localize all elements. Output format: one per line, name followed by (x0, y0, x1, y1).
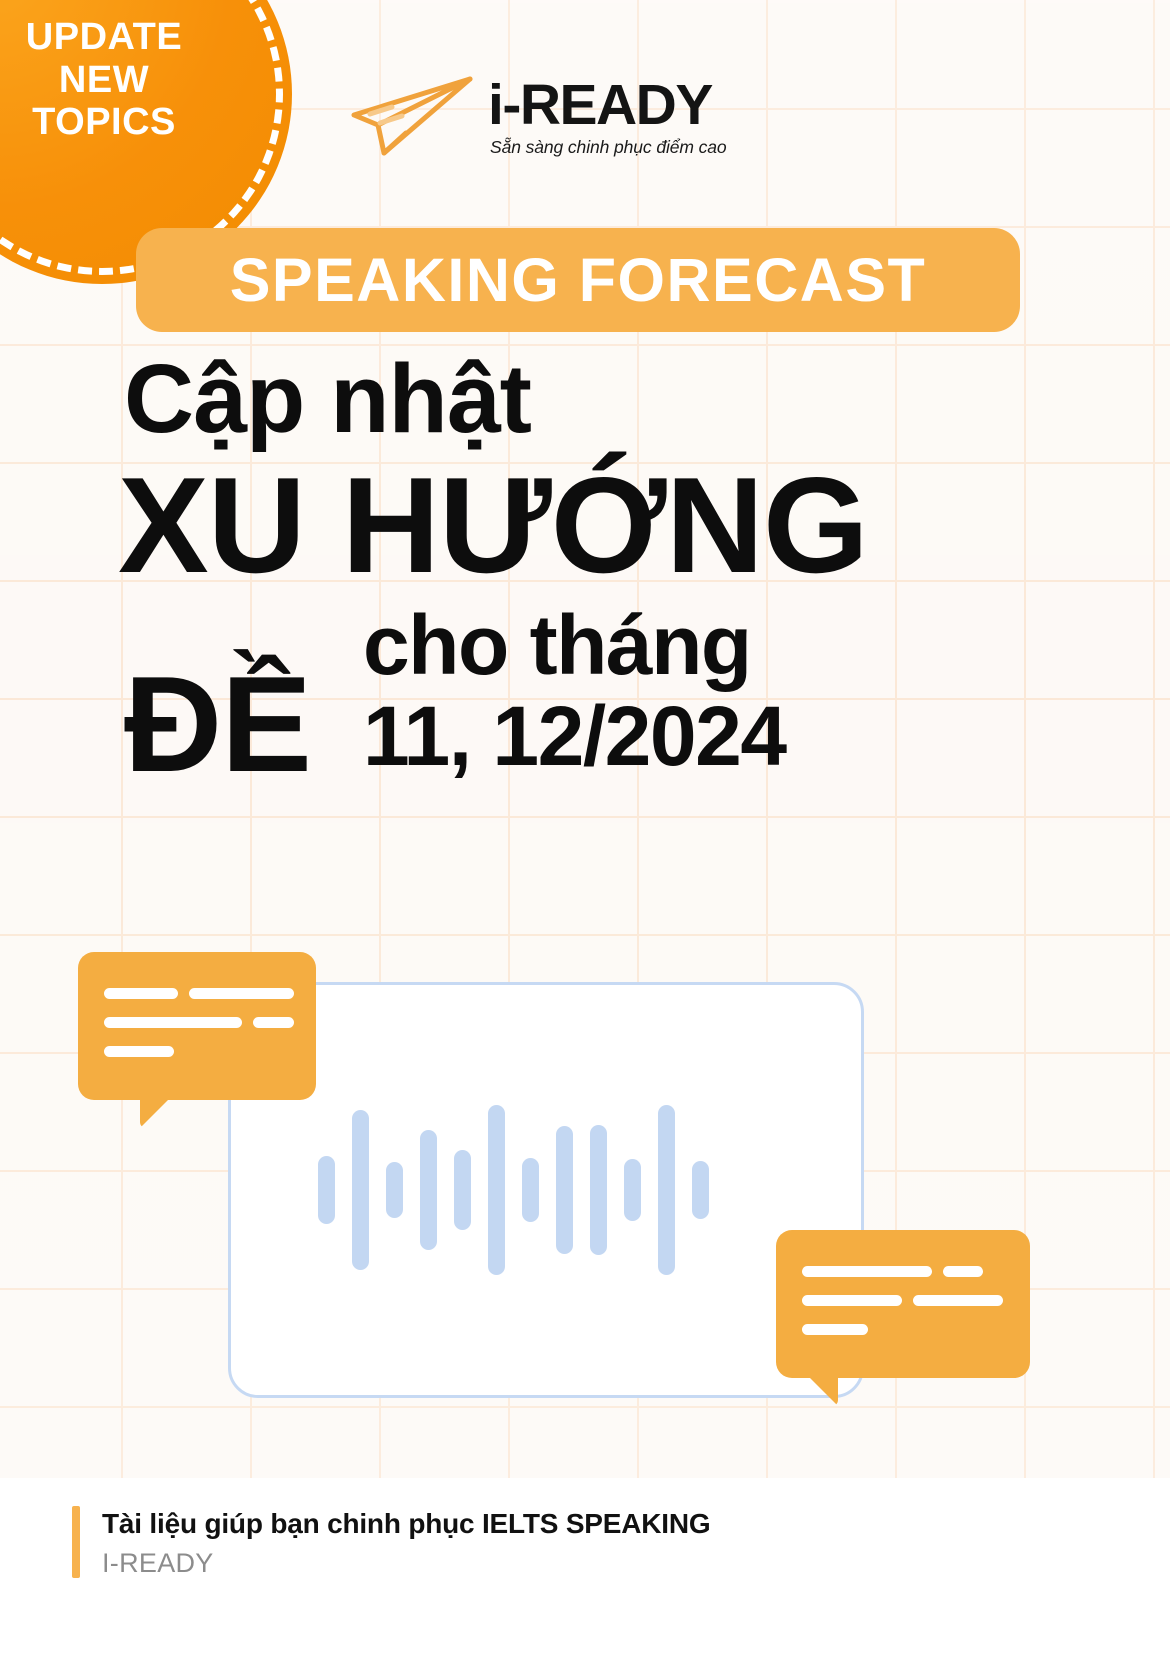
chat-bubble-left (78, 952, 316, 1100)
speaking-forecast-banner: SPEAKING FORECAST (136, 228, 1020, 332)
footer-accent-bar (72, 1506, 80, 1578)
paper-plane-icon (348, 73, 478, 159)
waveform-bar (318, 1156, 335, 1224)
chat-bubble-right (776, 1230, 1030, 1378)
bubble-line (802, 1266, 932, 1277)
brand-logo: i-READY Sẵn sàng chinh phục điểm cao (348, 62, 778, 170)
bubble-line (253, 1017, 294, 1028)
headline-months: 11, 12/2024 (363, 691, 786, 782)
bubble-line (104, 1017, 242, 1028)
speaking-illustration (0, 940, 1170, 1440)
logo-name-text: i-READY (488, 73, 712, 137)
bubble-line-row (802, 1324, 1008, 1335)
bubble-line-row (104, 1046, 294, 1057)
chat-bubble-right-tail (808, 1376, 838, 1406)
footer-text: Tài liệu giúp bạn chinh phục IELTS SPEAK… (102, 1506, 710, 1579)
headline-line-2: XU HƯỚNG (118, 459, 1170, 592)
banner-label: SPEAKING FORECAST (230, 245, 927, 315)
footer-content: Tài liệu giúp bạn chinh phục IELTS SPEAK… (72, 1506, 710, 1579)
logo-tagline: Sẵn sàng chinh phục điểm cao (490, 137, 727, 158)
headline-line-1: Cập nhật (124, 350, 1170, 447)
chat-bubble-right-lines (802, 1266, 1008, 1335)
waveform-bar (658, 1105, 675, 1275)
logo-name: i-READY (488, 78, 727, 133)
badge-line-3: TOPICS (4, 101, 204, 144)
headline-date-block: cho tháng 11, 12/2024 (363, 600, 786, 791)
headline-de: ĐỀ (124, 656, 311, 792)
bubble-line-row (104, 1017, 294, 1028)
bubble-line (802, 1324, 868, 1335)
bubble-line (189, 988, 294, 999)
bubble-line-row (802, 1295, 1008, 1306)
logo-text: i-READY Sẵn sàng chinh phục điểm cao (488, 74, 727, 159)
waveform-bar (556, 1126, 573, 1254)
badge-line-2: NEW (4, 59, 204, 102)
waveform-bar (624, 1159, 641, 1221)
waveform-bar (454, 1150, 471, 1230)
chat-bubble-left-lines (104, 988, 294, 1057)
bubble-line (104, 988, 178, 999)
headline-row-3: ĐỀ cho tháng 11, 12/2024 (124, 600, 1170, 791)
waveform-bar (352, 1110, 369, 1270)
waveform-bar (692, 1161, 709, 1219)
poster: UPDATE NEW TOPICS i-READY Sẵn sàng chinh… (0, 0, 1170, 1655)
headline-cho-thang: cho tháng (363, 600, 786, 691)
bubble-line-row (802, 1266, 1008, 1277)
bubble-line-row (104, 988, 294, 999)
bubble-line (943, 1266, 983, 1277)
waveform-bar (488, 1105, 505, 1275)
bubble-line (104, 1046, 174, 1057)
waveform-bar (420, 1130, 437, 1250)
chat-bubble-left-tail (140, 1098, 170, 1128)
footer-line-1: Tài liệu giúp bạn chinh phục IELTS SPEAK… (102, 1506, 710, 1541)
waveform-bar (522, 1158, 539, 1222)
bubble-line (802, 1295, 902, 1306)
footer: Tài liệu giúp bạn chinh phục IELTS SPEAK… (0, 1478, 1170, 1655)
waveform-bar (590, 1125, 607, 1255)
badge-line-1: UPDATE (4, 16, 204, 59)
audio-waveform-icon (318, 1095, 768, 1285)
bubble-line (913, 1295, 1003, 1306)
badge-text: UPDATE NEW TOPICS (4, 16, 204, 144)
headline-block: Cập nhật XU HƯỚNG ĐỀ cho tháng 11, 12/20… (0, 350, 1170, 792)
footer-line-2: I-READY (102, 1547, 710, 1579)
waveform-bar (386, 1162, 403, 1218)
